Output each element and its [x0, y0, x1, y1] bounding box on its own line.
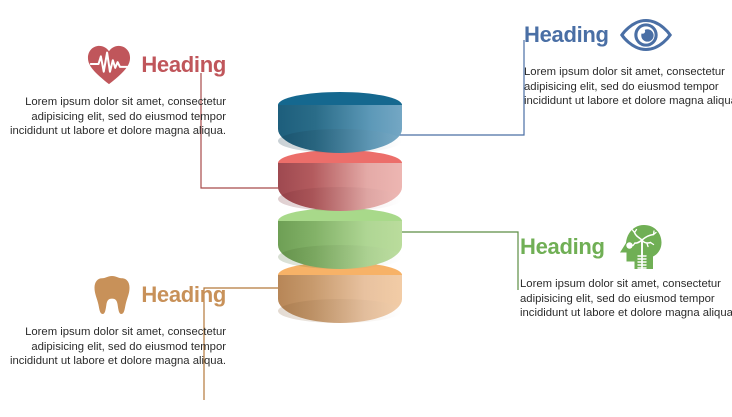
heart-pulse-icon: [86, 43, 132, 87]
callout-header-top-left: Heading: [0, 42, 226, 88]
eye-icon: [618, 15, 674, 55]
callout-top-right[interactable]: Heading Lorem ipsum dolor sit amet, cons…: [524, 12, 732, 109]
callout-heading-top-left: Heading: [141, 54, 226, 76]
callout-header-top-right: Heading: [524, 12, 732, 58]
infographic-canvas: Heading Lorem ipsum dolor sit amet, cons…: [0, 0, 732, 417]
callout-heading-top-right: Heading: [524, 24, 609, 46]
callout-heading-bottom-left: Heading: [141, 284, 226, 306]
brain-head-icon: [614, 223, 664, 271]
callout-header-bottom-right: Heading: [520, 224, 732, 270]
disc-body-green: [278, 221, 402, 269]
callout-bottom-right[interactable]: Heading Lorem ipsum dolor sit amet, cons…: [520, 224, 732, 321]
disc-body-blue: [278, 105, 402, 153]
disc-body-orange: [278, 275, 402, 323]
callout-top-left[interactable]: Heading Lorem ipsum dolor sit amet, cons…: [0, 42, 226, 139]
tooth-icon: [92, 273, 132, 317]
callout-body-bottom-left: Lorem ipsum dolor sit amet, consectetur …: [0, 325, 226, 369]
callout-bottom-left[interactable]: Heading Lorem ipsum dolor sit amet, cons…: [0, 272, 226, 369]
disc-body-red: [278, 163, 402, 211]
callout-body-top-left: Lorem ipsum dolor sit amet, consectetur …: [0, 95, 226, 139]
callout-header-bottom-left: Heading: [0, 272, 226, 318]
cylinder-stack: [278, 92, 402, 318]
callout-body-bottom-right: Lorem ipsum dolor sit amet, consectetur …: [520, 277, 732, 321]
callout-heading-bottom-right: Heading: [520, 236, 605, 258]
connector-line-green: [388, 232, 518, 290]
connector-line-blue: [392, 40, 524, 135]
callout-body-top-right: Lorem ipsum dolor sit amet, consectetur …: [524, 65, 732, 109]
